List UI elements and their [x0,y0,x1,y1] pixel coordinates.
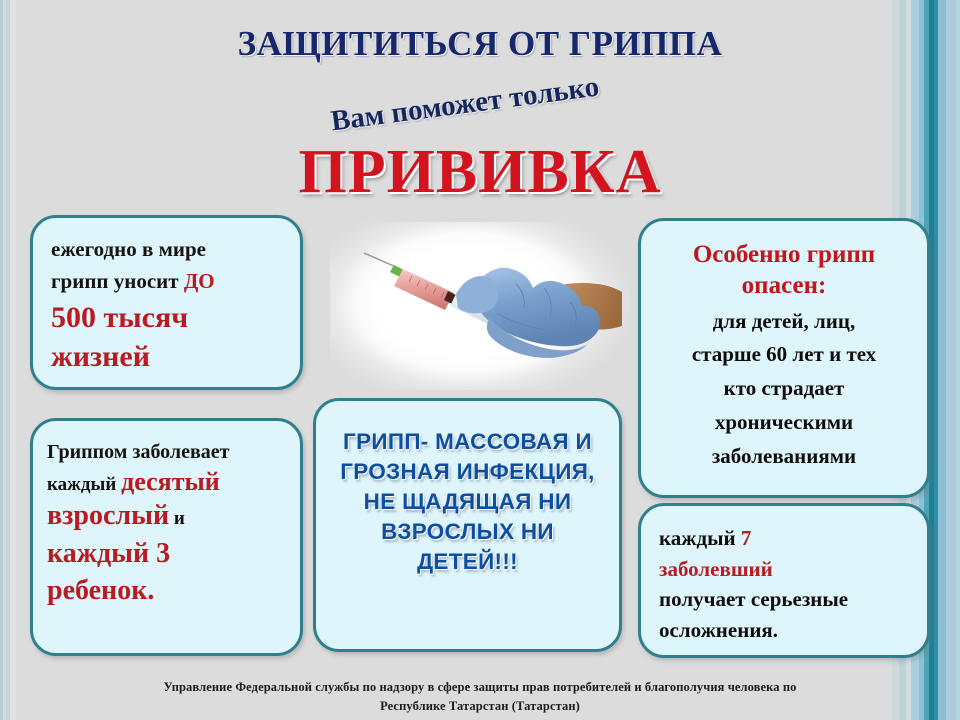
fact-box-deaths: ежегодно в мире грипп уносит ДО 500 тыся… [30,215,303,390]
center-line-5: ДЕТЕЙ!!! [330,547,605,577]
fact-box-at-risk: Особенно грипп опасен: для детей, лиц, с… [638,218,930,498]
footer-agency: Управление Федеральной службы по надзору… [60,678,900,717]
danger-heading-1: Особенно грипп [653,239,915,270]
footer-line-2: Республике Татарстан (Татарстан) [60,697,900,716]
incidence-line-4: каждый 3 [47,535,288,573]
fact-box-center-warning: ГРИПП- МАССОВАЯ И ГРОЗНАЯ ИНФЕКЦИЯ, НЕ Щ… [313,398,622,652]
incidence-line-2: каждый десятый [47,467,288,497]
danger-body-1: для детей, лиц, [653,308,915,336]
center-line-2: ГРОЗНАЯ ИНФЕКЦИЯ, [330,457,605,487]
center-line-3: НЕ ЩАДЯЩАЯ НИ [330,487,605,517]
complication-line-1: каждый 7 [659,523,917,554]
poster-root: ЗАЩИТИТЬСЯ ОТ ГРИППА Вам поможет только … [0,0,960,720]
deaths-line-2-red: ДО [184,269,215,293]
complication-line-3: получает серьезные [659,584,917,615]
glove-thumb [456,276,498,313]
complication-line-1-black: каждый [659,526,741,550]
danger-body-4: хроническими [653,409,915,437]
incidence-line-3-red: взрослый [47,500,169,531]
incidence-line-3-black: и [169,508,185,529]
danger-body-2: старше 60 лет и тех [653,341,915,369]
incidence-line-2-red: десятый [121,467,220,496]
syringe-in-gloved-hand-illustration [330,222,630,390]
incidence-line-2-black: каждый [47,474,121,495]
incidence-line-5: ребенок. [47,572,288,610]
footer-line-1: Управление Федеральной службы по надзору… [60,678,900,697]
deaths-line-2-black: грипп уносит [51,269,184,293]
syringe-needle [364,253,396,267]
left-edge-stripe [0,0,24,720]
page-title: ЗАЩИТИТЬСЯ ОТ ГРИППА [0,24,960,64]
danger-body-5: заболеваниями [653,443,915,471]
incidence-line-3: взрослый и [47,497,288,535]
danger-body-3: кто страдает [653,375,915,403]
incidence-line-1: Гриппом заболевает [47,437,288,467]
center-line-4: ВЗРОСЛЫХ НИ [330,517,605,547]
danger-heading-2: опасен: [653,270,915,301]
syringe-photo [330,222,630,390]
fact-box-incidence: Гриппом заболевает каждый десятый взросл… [30,418,303,656]
page-subtitle: Вам поможет только [265,62,666,147]
center-line-1: ГРИПП- МАССОВАЯ И [330,427,605,457]
deaths-line-3: 500 тысяч [51,298,286,337]
deaths-line-4: жизней [51,337,286,376]
complication-line-2: заболевший [659,554,917,585]
syringe-barrel [394,269,454,310]
deaths-line-2: грипп уносит ДО [51,266,286,298]
complication-line-1-red: 7 [741,526,752,550]
fact-box-complications: каждый 7 заболевший получает серьезные о… [638,503,930,658]
complication-line-4: осложнения. [659,615,917,646]
hero-title: ПРИВИВКА [0,137,960,208]
deaths-line-1: ежегодно в мире [51,234,286,266]
